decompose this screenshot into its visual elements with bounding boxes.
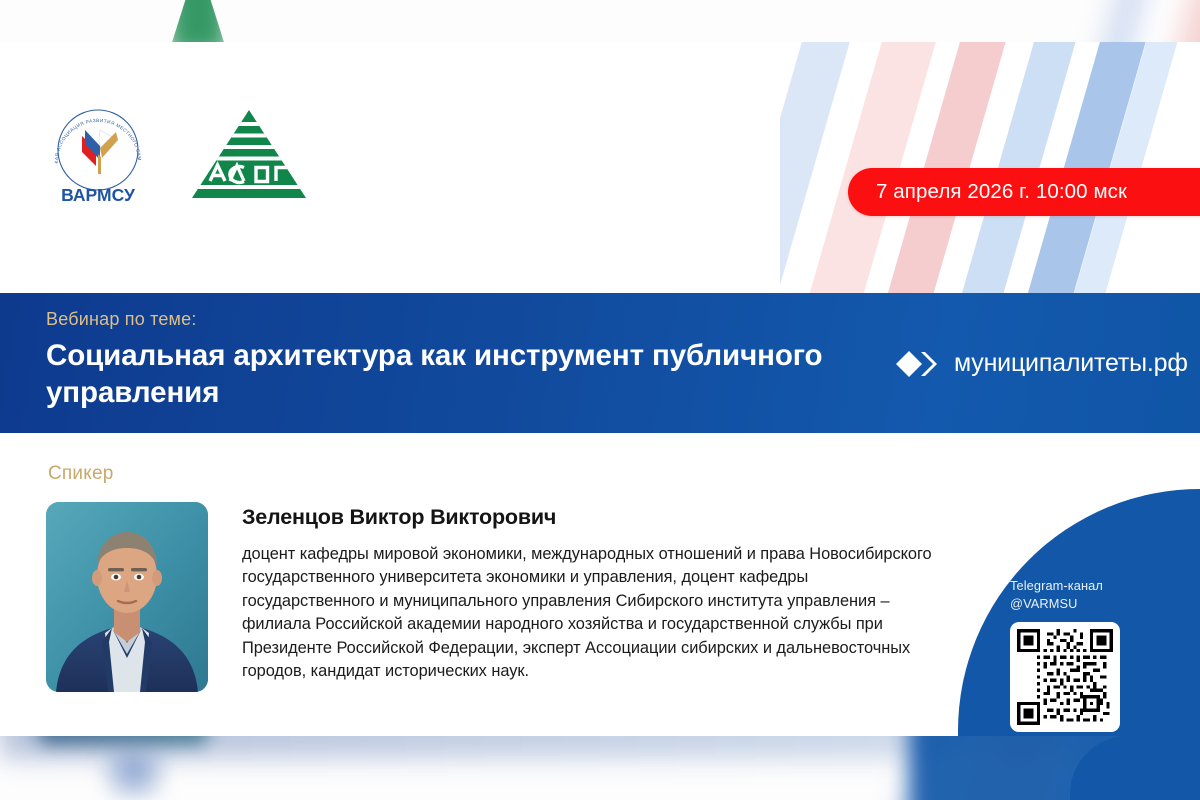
varmsu-logo: ВСЕРОССИЙСКАЯ АССОЦИАЦИЯ РАЗВИТИЯ МЕСТНО… [44, 100, 152, 208]
poster-canvas: ВСЕРОССИЙСКАЯ АССОЦИАЦИЯ РАЗВИТИЯ МЕСТНО… [0, 0, 1200, 800]
qr-code[interactable] [1010, 622, 1120, 732]
banner-title: Социальная архитектура как инструмент пу… [46, 337, 836, 411]
speaker-name: Зеленцов Виктор Викторович [242, 505, 932, 530]
telegram-label: Telegram-канал [1010, 578, 1103, 593]
municipalitety-wordmark: муниципалитеты.рф [954, 349, 1188, 378]
backdrop-ghost-varmsu [88, 752, 180, 800]
municipalitety-logo[interactable]: муниципалитеты.рф [895, 349, 1188, 378]
speaker-photo [46, 502, 208, 692]
speaker-body: Зеленцов Виктор Викторович доцент кафедр… [46, 502, 932, 692]
qr-panel-content: Telegram-канал @VARMSU [1010, 577, 1180, 732]
diamond-chevron-icon [895, 350, 943, 378]
asdg-logo [190, 108, 308, 200]
banner-kicker: Вебинар по теме: [46, 309, 846, 330]
date-badge: 7 апреля 2026 г. 10:00 мск [848, 168, 1200, 216]
qr-code-icon [1017, 629, 1113, 725]
banner-text-block: Вебинар по теме: Социальная архитектура … [46, 309, 846, 411]
svg-text:ВАРМСУ: ВАРМСУ [61, 185, 136, 205]
telegram-handle: @VARMSU [1010, 595, 1180, 613]
logo-row: ВСЕРОССИЙСКАЯ АССОЦИАЦИЯ РАЗВИТИЯ МЕСТНО… [44, 100, 308, 208]
telegram-label-block: Telegram-канал @VARMSU [1010, 577, 1180, 613]
poster-card: ВСЕРОССИЙСКАЯ АССОЦИАЦИЯ РАЗВИТИЯ МЕСТНО… [0, 42, 1200, 736]
speaker-info: Зеленцов Виктор Викторович доцент кафедр… [242, 502, 932, 692]
webinar-banner: Вебинар по теме: Социальная архитектура … [0, 293, 1200, 433]
speaker-bio: доцент кафедры мировой экономики, междун… [242, 543, 932, 684]
speaker-kicker: Спикер [48, 463, 113, 485]
poster-header: ВСЕРОССИЙСКАЯ АССОЦИАЦИЯ РАЗВИТИЯ МЕСТНО… [0, 42, 1200, 293]
